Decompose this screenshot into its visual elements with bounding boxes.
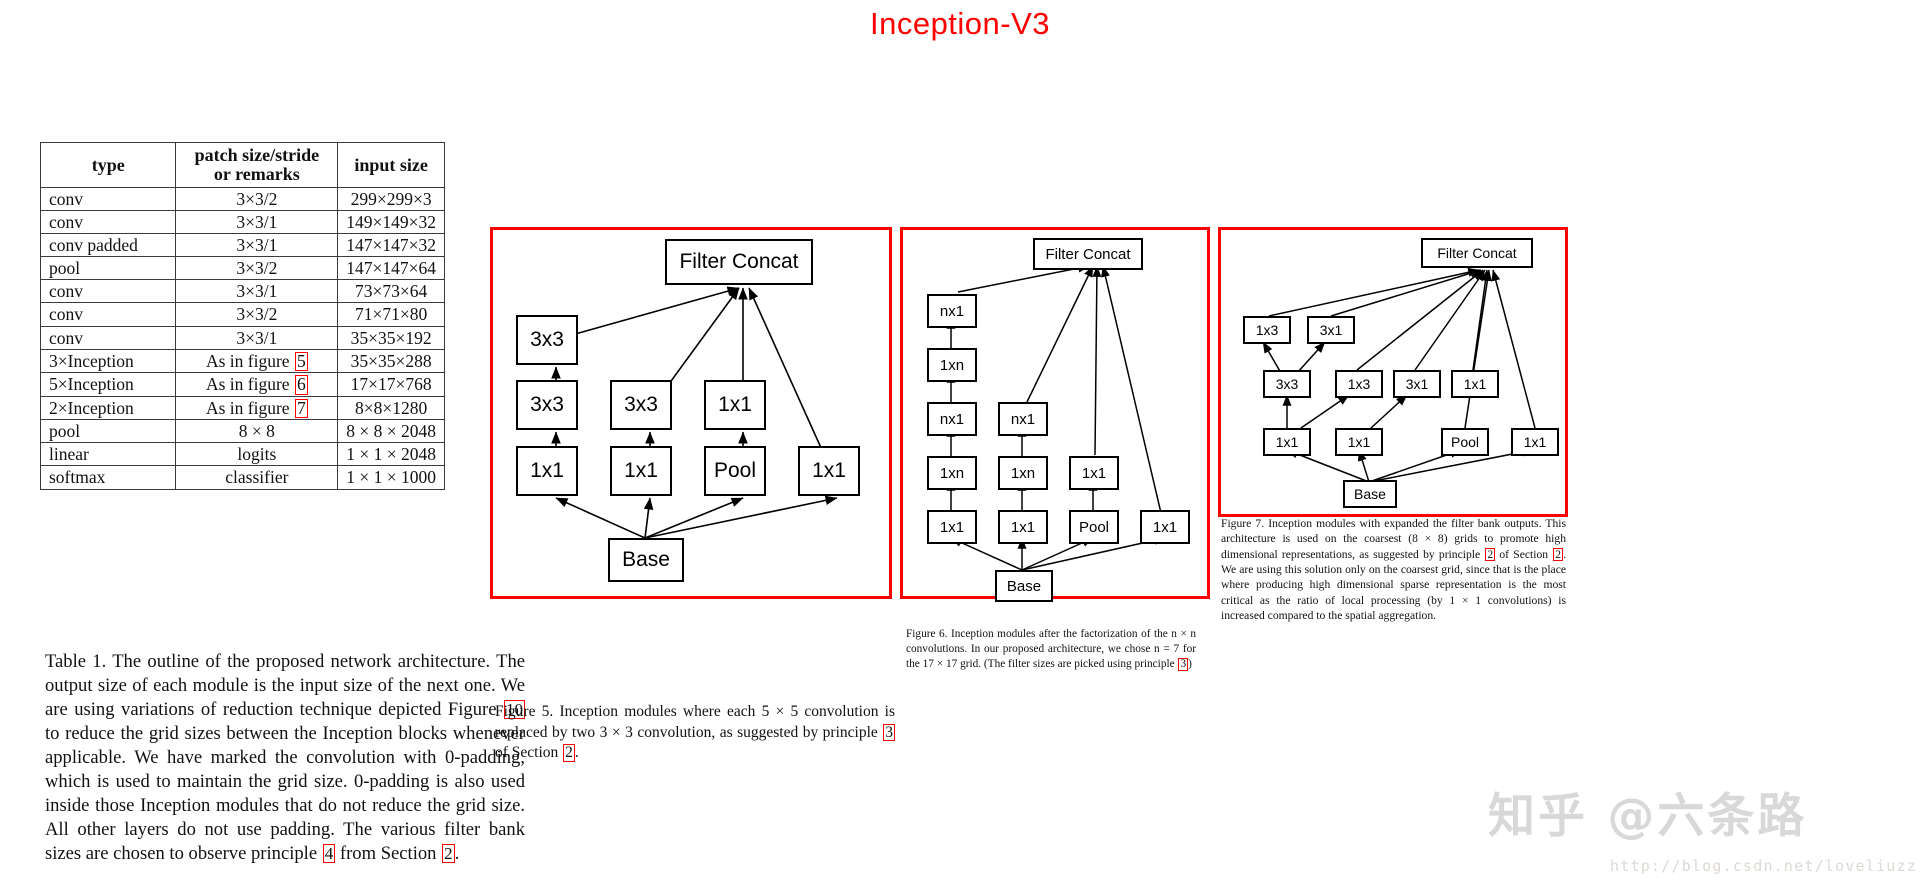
fig5-node-1x1-left[interactable]: 1x1 [516, 446, 578, 496]
fig6-node-1x1-col4[interactable]: 1x1 [1140, 510, 1190, 544]
fig6-node-1xn-2[interactable]: 1xn [927, 348, 977, 382]
fig5-node-1x1-right[interactable]: 1x1 [798, 446, 860, 496]
cell-patch-size: 3×3/2 [176, 187, 338, 210]
cell-patch-size: As in figure 6 [176, 373, 338, 397]
cell-patch-size: 3×3/1 [176, 280, 338, 303]
figure-reference-7[interactable]: 7 [295, 399, 308, 419]
fig7-node-pool[interactable]: Pool [1441, 428, 1489, 456]
figure-7-caption-part2: of Section [1495, 548, 1552, 561]
column-header-type: type [41, 143, 176, 188]
fig7-principle-reference-2[interactable]: 2 [1485, 548, 1495, 562]
column-header-patch-line1: patch size/stride [195, 145, 319, 165]
cell-type: pool [41, 257, 176, 280]
architecture-table-block: type patch size/stride or remarks input … [40, 142, 445, 490]
figure-6-caption: Figure 6. Inception modules after the fa… [906, 627, 1196, 672]
table-row: conv3×3/271×71×80 [41, 303, 445, 326]
fig6-node-nx1-top[interactable]: nx1 [927, 294, 977, 328]
cell-patch-text: 3×3/1 [236, 328, 277, 348]
fig5-node-1x1-branch2[interactable]: 1x1 [610, 446, 672, 496]
cell-type: conv [41, 303, 176, 326]
table-body: conv3×3/2299×299×3conv3×3/1149×149×32con… [41, 187, 445, 489]
cell-input-size: 8×8×1280 [338, 396, 445, 420]
figure-6-caption-part1: Figure 6. Inception modules after the fa… [906, 628, 1196, 670]
cell-input-size: 149×149×32 [338, 210, 445, 233]
cell-input-size: 73×73×64 [338, 280, 445, 303]
figure-5-caption: Figure 5. Inception modules where each 5… [495, 702, 895, 764]
table-caption-part1: Table 1. The outline of the proposed net… [45, 651, 525, 720]
architecture-table: type patch size/stride or remarks input … [40, 142, 445, 490]
fig7-node-1x1-mid[interactable]: 1x1 [1451, 370, 1499, 398]
cell-type: conv [41, 187, 176, 210]
figure-5-caption-part2: of Section [495, 744, 562, 761]
cell-patch-size: 8 × 8 [176, 420, 338, 443]
table-caption-part3: from Section [335, 843, 441, 864]
cell-input-size: 8 × 8 × 2048 [338, 420, 445, 443]
fig5-node-filter-concat[interactable]: Filter Concat [665, 239, 813, 285]
principle-reference-4[interactable]: 4 [323, 844, 336, 863]
column-header-input-size: input size [338, 143, 445, 188]
cell-input-size: 35×35×192 [338, 326, 445, 349]
cell-type: conv [41, 326, 176, 349]
section-reference-2[interactable]: 2 [442, 844, 455, 863]
cell-patch-size: 3×3/2 [176, 303, 338, 326]
fig6-node-nx1-3[interactable]: nx1 [927, 402, 977, 436]
fig7-node-3x1-top[interactable]: 3x1 [1307, 316, 1355, 344]
table-row: 5×InceptionAs in figure 617×17×768 [41, 373, 445, 397]
table-header-row: type patch size/stride or remarks input … [41, 143, 445, 188]
cell-type: 3×Inception [41, 349, 176, 373]
fig6-node-base[interactable]: Base [995, 570, 1053, 602]
figure-reference-6[interactable]: 6 [295, 375, 308, 395]
cell-type: 2×Inception [41, 396, 176, 420]
cell-patch-text: 3×3/1 [236, 212, 277, 232]
cell-patch-size: 3×3/2 [176, 257, 338, 280]
fig7-section-reference-2[interactable]: 2 [1553, 548, 1563, 562]
cell-type: conv [41, 280, 176, 303]
table-row: conv3×3/135×35×192 [41, 326, 445, 349]
cell-patch-size: logits [176, 443, 338, 466]
cell-patch-text: logits [237, 444, 276, 464]
table-row: linearlogits1 × 1 × 2048 [41, 443, 445, 466]
cell-patch-text: 3×3/2 [236, 189, 277, 209]
cell-input-size: 1 × 1 × 2048 [338, 443, 445, 466]
figure-5-panel: Filter Concat 3x3 3x3 1x1 3x3 1x1 1x1 Po… [490, 227, 892, 599]
cell-patch-text: 3×3/2 [236, 304, 277, 324]
table-caption: Table 1. The outline of the proposed net… [45, 650, 525, 866]
cell-type: pool [41, 420, 176, 443]
table-header: type patch size/stride or remarks input … [41, 143, 445, 188]
cell-input-size: 147×147×32 [338, 234, 445, 257]
fig7-node-1x1-b1[interactable]: 1x1 [1263, 428, 1311, 456]
figure-7-caption: Figure 7. Inception modules with expande… [1221, 516, 1566, 624]
cell-patch-text: As in figure [206, 398, 294, 418]
fig7-node-1x3-mid[interactable]: 1x3 [1335, 370, 1383, 398]
cell-patch-size: 3×3/1 [176, 234, 338, 257]
table-caption-part2: to reduce the grid sizes between the Inc… [45, 723, 525, 864]
table-row: pool8 × 88 × 8 × 2048 [41, 420, 445, 443]
cell-patch-size: classifier [176, 466, 338, 489]
cell-patch-size: As in figure 7 [176, 396, 338, 420]
fig7-node-1x1-b2[interactable]: 1x1 [1335, 428, 1383, 456]
cell-patch-text: 8 × 8 [239, 421, 275, 441]
cell-patch-size: 3×3/1 [176, 326, 338, 349]
fig5-node-base[interactable]: Base [608, 538, 684, 582]
fig6-node-pool[interactable]: Pool [1069, 510, 1119, 544]
watermark-url: http://blog.csdn.net/loveliuzz [1610, 857, 1917, 875]
table-row: conv3×3/1149×149×32 [41, 210, 445, 233]
fig6-node-1xn-col2[interactable]: 1xn [998, 456, 1048, 490]
fig7-node-filter-concat[interactable]: Filter Concat [1421, 238, 1533, 268]
cell-patch-text: As in figure [206, 351, 294, 371]
cell-type: 5×Inception [41, 373, 176, 397]
fig5-principle-reference-3[interactable]: 3 [883, 724, 895, 742]
fig7-node-3x1-mid[interactable]: 3x1 [1393, 370, 1441, 398]
fig7-node-3x3[interactable]: 3x3 [1263, 370, 1311, 398]
cell-patch-text: 3×3/2 [236, 258, 277, 278]
fig6-node-1x1-col1[interactable]: 1x1 [927, 510, 977, 544]
fig5-node-1x1-branch3[interactable]: 1x1 [704, 380, 766, 430]
fig5-section-reference-2[interactable]: 2 [563, 744, 575, 762]
fig5-node-3x3-mid[interactable]: 3x3 [516, 380, 578, 430]
figure-6-panel: Filter Concat nx1 1xn nx1 1xn 1x1 nx1 1x… [900, 227, 1210, 599]
cell-patch-text: As in figure [206, 374, 294, 394]
cell-type: conv [41, 210, 176, 233]
table-row: softmaxclassifier1 × 1 × 1000 [41, 466, 445, 489]
figure-reference-5[interactable]: 5 [295, 352, 308, 372]
cell-input-size: 1 × 1 × 1000 [338, 466, 445, 489]
table-row: 3×InceptionAs in figure 535×35×288 [41, 349, 445, 373]
figure-5-caption-part3: . [575, 744, 579, 761]
fig6-principle-reference-3[interactable]: 3 [1178, 658, 1188, 671]
figure-6-caption-part2: ) [1188, 658, 1192, 670]
fig6-node-1x1-col3[interactable]: 1x1 [1069, 456, 1119, 490]
fig6-node-nx1-col2[interactable]: nx1 [998, 402, 1048, 436]
column-header-patch: patch size/stride or remarks [176, 143, 338, 188]
fig6-node-1x1-col2[interactable]: 1x1 [998, 510, 1048, 544]
watermark-brand: 知乎 @六条路 [1488, 777, 1807, 846]
table-row: pool3×3/2147×147×64 [41, 257, 445, 280]
figure-7-panel: Filter Concat 1x3 3x1 3x3 1x3 3x1 1x1 1x… [1218, 227, 1568, 517]
column-header-patch-line2: or remarks [184, 165, 329, 184]
fig5-node-3x3-branch2[interactable]: 3x3 [610, 380, 672, 430]
page-title: Inception-V3 [0, 6, 1920, 42]
fig7-node-1x3-top[interactable]: 1x3 [1243, 316, 1291, 344]
fig6-node-1xn-4[interactable]: 1xn [927, 456, 977, 490]
fig5-node-3x3-top[interactable]: 3x3 [516, 315, 578, 365]
fig6-node-filter-concat[interactable]: Filter Concat [1033, 238, 1143, 270]
fig7-node-base[interactable]: Base [1343, 480, 1397, 508]
fig5-node-pool[interactable]: Pool [704, 446, 766, 496]
cell-input-size: 71×71×80 [338, 303, 445, 326]
table-row: 2×InceptionAs in figure 78×8×1280 [41, 396, 445, 420]
cell-input-size: 299×299×3 [338, 187, 445, 210]
table-row: conv3×3/173×73×64 [41, 280, 445, 303]
cell-patch-text: 3×3/1 [236, 235, 277, 255]
cell-patch-text: classifier [225, 467, 288, 487]
cell-patch-text: 3×3/1 [236, 281, 277, 301]
cell-type: linear [41, 443, 176, 466]
cell-patch-size: As in figure 5 [176, 349, 338, 373]
cell-input-size: 35×35×288 [338, 349, 445, 373]
cell-patch-size: 3×3/1 [176, 210, 338, 233]
fig7-node-1x1-b4[interactable]: 1x1 [1511, 428, 1559, 456]
cell-type: softmax [41, 466, 176, 489]
table-caption-part4: . [455, 843, 460, 864]
cell-input-size: 17×17×768 [338, 373, 445, 397]
table-row: conv3×3/2299×299×3 [41, 187, 445, 210]
table-row: conv padded3×3/1147×147×32 [41, 234, 445, 257]
cell-type: conv padded [41, 234, 176, 257]
cell-input-size: 147×147×64 [338, 257, 445, 280]
figure-5-caption-part1: Figure 5. Inception modules where each 5… [495, 703, 895, 741]
